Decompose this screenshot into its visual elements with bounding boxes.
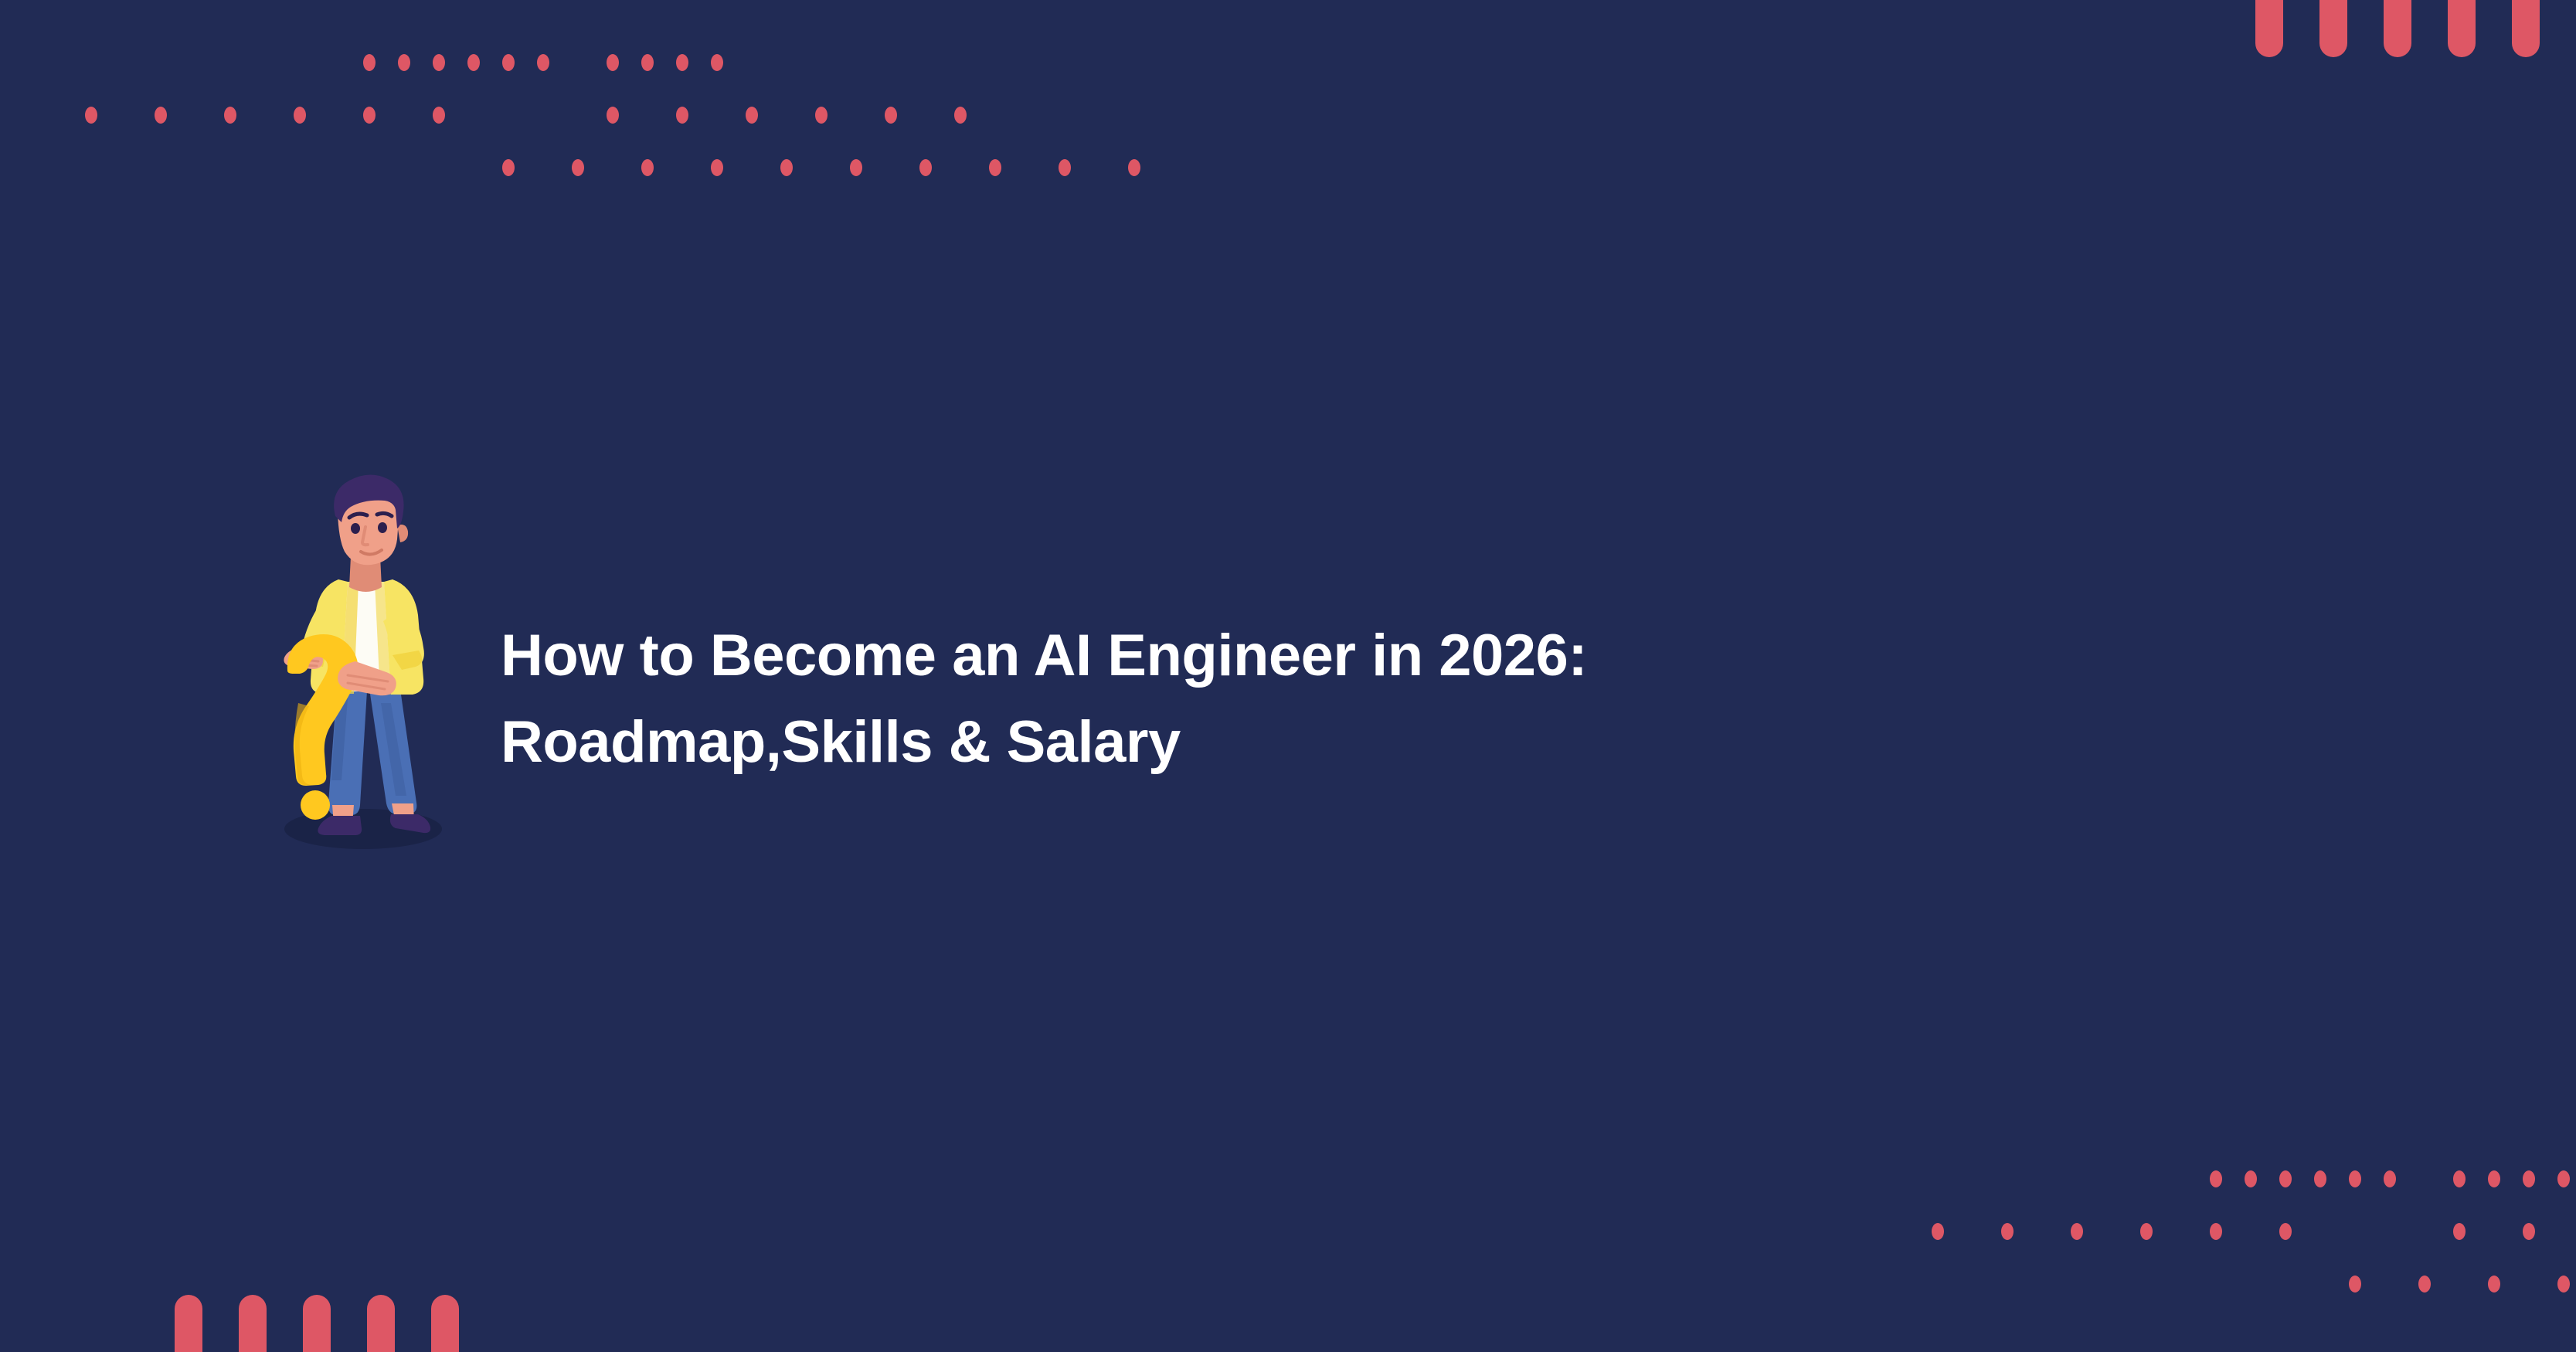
decorative-dot	[815, 107, 828, 124]
decorative-dot	[641, 159, 654, 176]
decorative-dot	[2557, 1276, 2570, 1293]
bottom-left-bars	[175, 1295, 495, 1352]
decorative-dot	[1059, 159, 1071, 176]
decorative-dot	[1128, 159, 1140, 176]
decorative-dot	[676, 54, 688, 71]
decorative-dot	[2488, 1276, 2500, 1293]
decorative-dot	[711, 54, 723, 71]
decorative-dot	[2453, 1223, 2466, 1240]
decorative-dot	[363, 54, 376, 71]
decorative-bar	[303, 1295, 331, 1352]
decorative-dot	[363, 107, 376, 124]
decorative-dot	[2523, 1170, 2535, 1187]
decorative-bar	[367, 1295, 395, 1352]
decorative-dot	[2245, 1170, 2257, 1187]
decorative-dot	[155, 107, 167, 124]
blog-banner: How to Become an AI Engineer in 2026: Ro…	[0, 0, 2576, 1352]
question-mark-dot	[301, 790, 330, 820]
decorative-dot	[467, 54, 480, 71]
decorative-dot	[607, 107, 619, 124]
decorative-dot	[537, 54, 549, 71]
decorative-dot	[850, 159, 862, 176]
decorative-dot	[919, 159, 932, 176]
decorative-bar	[2512, 0, 2540, 57]
decorative-dot	[2523, 1223, 2535, 1240]
headline-line-1: How to Become an AI Engineer in 2026:	[501, 613, 2394, 699]
decorative-dot	[294, 107, 306, 124]
decorative-dot	[572, 159, 584, 176]
decorative-dot	[989, 159, 1001, 176]
decorative-bar	[2448, 0, 2476, 57]
decorative-dot	[2140, 1223, 2153, 1240]
decorative-dot	[885, 107, 897, 124]
decorative-dot	[676, 107, 688, 124]
decorative-dot	[1932, 1223, 1944, 1240]
right-eye	[378, 522, 387, 533]
decorative-bar	[239, 1295, 267, 1352]
decorative-dot	[2453, 1170, 2466, 1187]
decorative-dot	[711, 159, 723, 176]
decorative-dot	[85, 107, 97, 124]
decorative-bar	[2255, 0, 2283, 57]
decorative-dot	[780, 159, 793, 176]
decorative-dot	[2557, 1170, 2570, 1187]
man-holding-question-mark-illustration	[255, 471, 471, 858]
decorative-dot	[2418, 1276, 2431, 1293]
decorative-bar	[2319, 0, 2347, 57]
decorative-dot	[502, 159, 515, 176]
decorative-dot	[2349, 1170, 2361, 1187]
decorative-bar	[2384, 0, 2411, 57]
decorative-dot	[2279, 1223, 2292, 1240]
decorative-dot	[2384, 1170, 2396, 1187]
page-title: How to Become an AI Engineer in 2026: Ro…	[501, 613, 2394, 786]
headline-line-2: Roadmap,Skills & Salary	[501, 699, 2394, 786]
decorative-dot	[224, 107, 236, 124]
decorative-dot	[2314, 1170, 2326, 1187]
decorative-dot	[2279, 1170, 2292, 1187]
decorative-dot	[954, 107, 967, 124]
ear	[397, 525, 408, 542]
decorative-dot	[502, 54, 515, 71]
decorative-dot	[2488, 1170, 2500, 1187]
decorative-dot	[398, 54, 410, 71]
top-right-bars	[2255, 0, 2576, 57]
decorative-bar	[431, 1295, 459, 1352]
decorative-dot	[641, 54, 654, 71]
decorative-bar	[175, 1295, 202, 1352]
decorative-dot	[433, 107, 445, 124]
decorative-dot	[2210, 1223, 2222, 1240]
decorative-dot	[607, 54, 619, 71]
decorative-dot	[2001, 1223, 2014, 1240]
left-eye	[351, 523, 360, 534]
decorative-dot	[433, 54, 445, 71]
decorative-dot	[2210, 1170, 2222, 1187]
decorative-dot	[746, 107, 758, 124]
decorative-dot	[2071, 1223, 2083, 1240]
decorative-dot	[2349, 1276, 2361, 1293]
